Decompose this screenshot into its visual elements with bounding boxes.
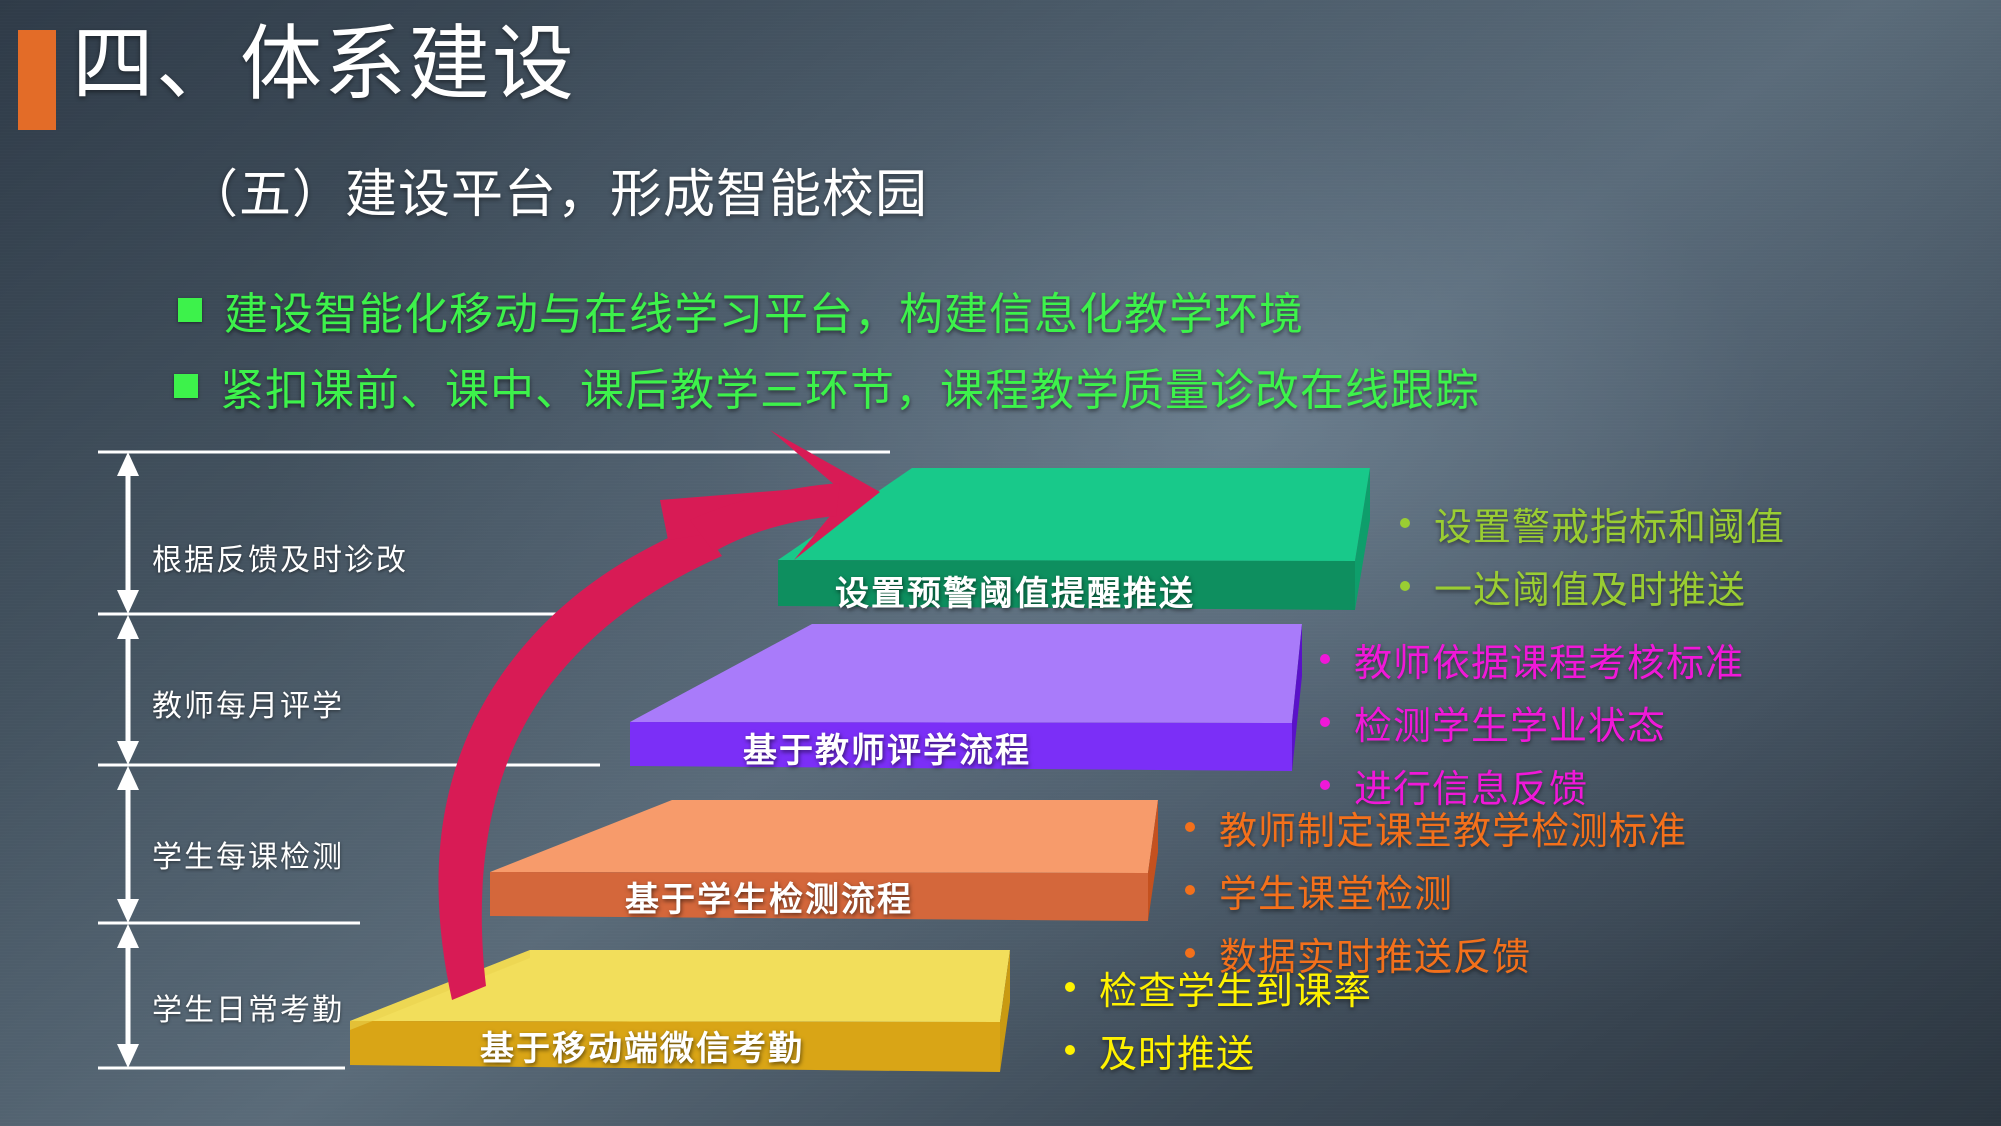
stack-label-green-wrap: 设置预警阈值提醒推送 (835, 566, 1195, 615)
right-bullet-label: 教师制定课堂教学检测标准 (1219, 800, 1687, 855)
list-item: 及时推送 (1065, 1023, 1372, 1078)
stack-label-yellow-wrap: 基于移动端微信考勤 (480, 1021, 804, 1070)
dot-bullet-icon (1320, 717, 1330, 727)
stack-layer-label-1: 基于教师评学流程 (743, 723, 1031, 772)
dot-bullet-icon (1400, 581, 1410, 591)
list-item: 检测学生学业状态 (1320, 695, 1744, 750)
dot-bullet-icon (1065, 1045, 1075, 1055)
dot-bullet-icon (1065, 982, 1075, 992)
list-item: 教师依据课程考核标准 (1320, 632, 1744, 687)
dot-bullet-icon (1320, 654, 1330, 664)
right-bullet-label: 设置警戒指标和阈值 (1434, 496, 1785, 551)
right-bullet-label: 检测学生学业状态 (1354, 695, 1666, 750)
right-group-magenta: 教师依据课程考核标准 检测学生学业状态 进行信息反馈 (1320, 632, 1744, 821)
stack-layer-label-2: 基于学生检测流程 (625, 872, 913, 921)
stack-label-purple-wrap: 基于教师评学流程 (743, 723, 1031, 772)
stack-layer-label-3: 基于移动端微信考勤 (480, 1021, 804, 1070)
list-item: 设置警戒指标和阈值 (1400, 496, 1785, 551)
slide-canvas: 四、体系建设 （五）建设平台，形成智能校园 建设智能化移动与在线学习平台，构建信… (0, 0, 2001, 1126)
right-bullet-label: 学生课堂检测 (1219, 863, 1453, 918)
right-bullet-label: 一达阈值及时推送 (1434, 559, 1746, 614)
list-item: 教师制定课堂教学检测标准 (1185, 800, 1687, 855)
right-group-yellow: 检查学生到课率 及时推送 (1065, 960, 1372, 1086)
dot-bullet-icon (1320, 780, 1330, 790)
dot-bullet-icon (1400, 518, 1410, 528)
list-item: 一达阈值及时推送 (1400, 559, 1785, 614)
list-item: 检查学生到课率 (1065, 960, 1372, 1015)
right-bullet-label: 检查学生到课率 (1099, 960, 1372, 1015)
dot-bullet-icon (1185, 948, 1195, 958)
right-group-green: 设置警戒指标和阈值 一达阈值及时推送 (1400, 496, 1785, 622)
stack-layer-label-0: 设置预警阈值提醒推送 (835, 566, 1195, 615)
stack-label-orange-wrap: 基于学生检测流程 (625, 872, 913, 921)
right-bullet-label: 及时推送 (1099, 1023, 1255, 1078)
dot-bullet-icon (1185, 885, 1195, 895)
list-item: 学生课堂检测 (1185, 863, 1687, 918)
right-bullet-label: 教师依据课程考核标准 (1354, 632, 1744, 687)
dot-bullet-icon (1185, 822, 1195, 832)
